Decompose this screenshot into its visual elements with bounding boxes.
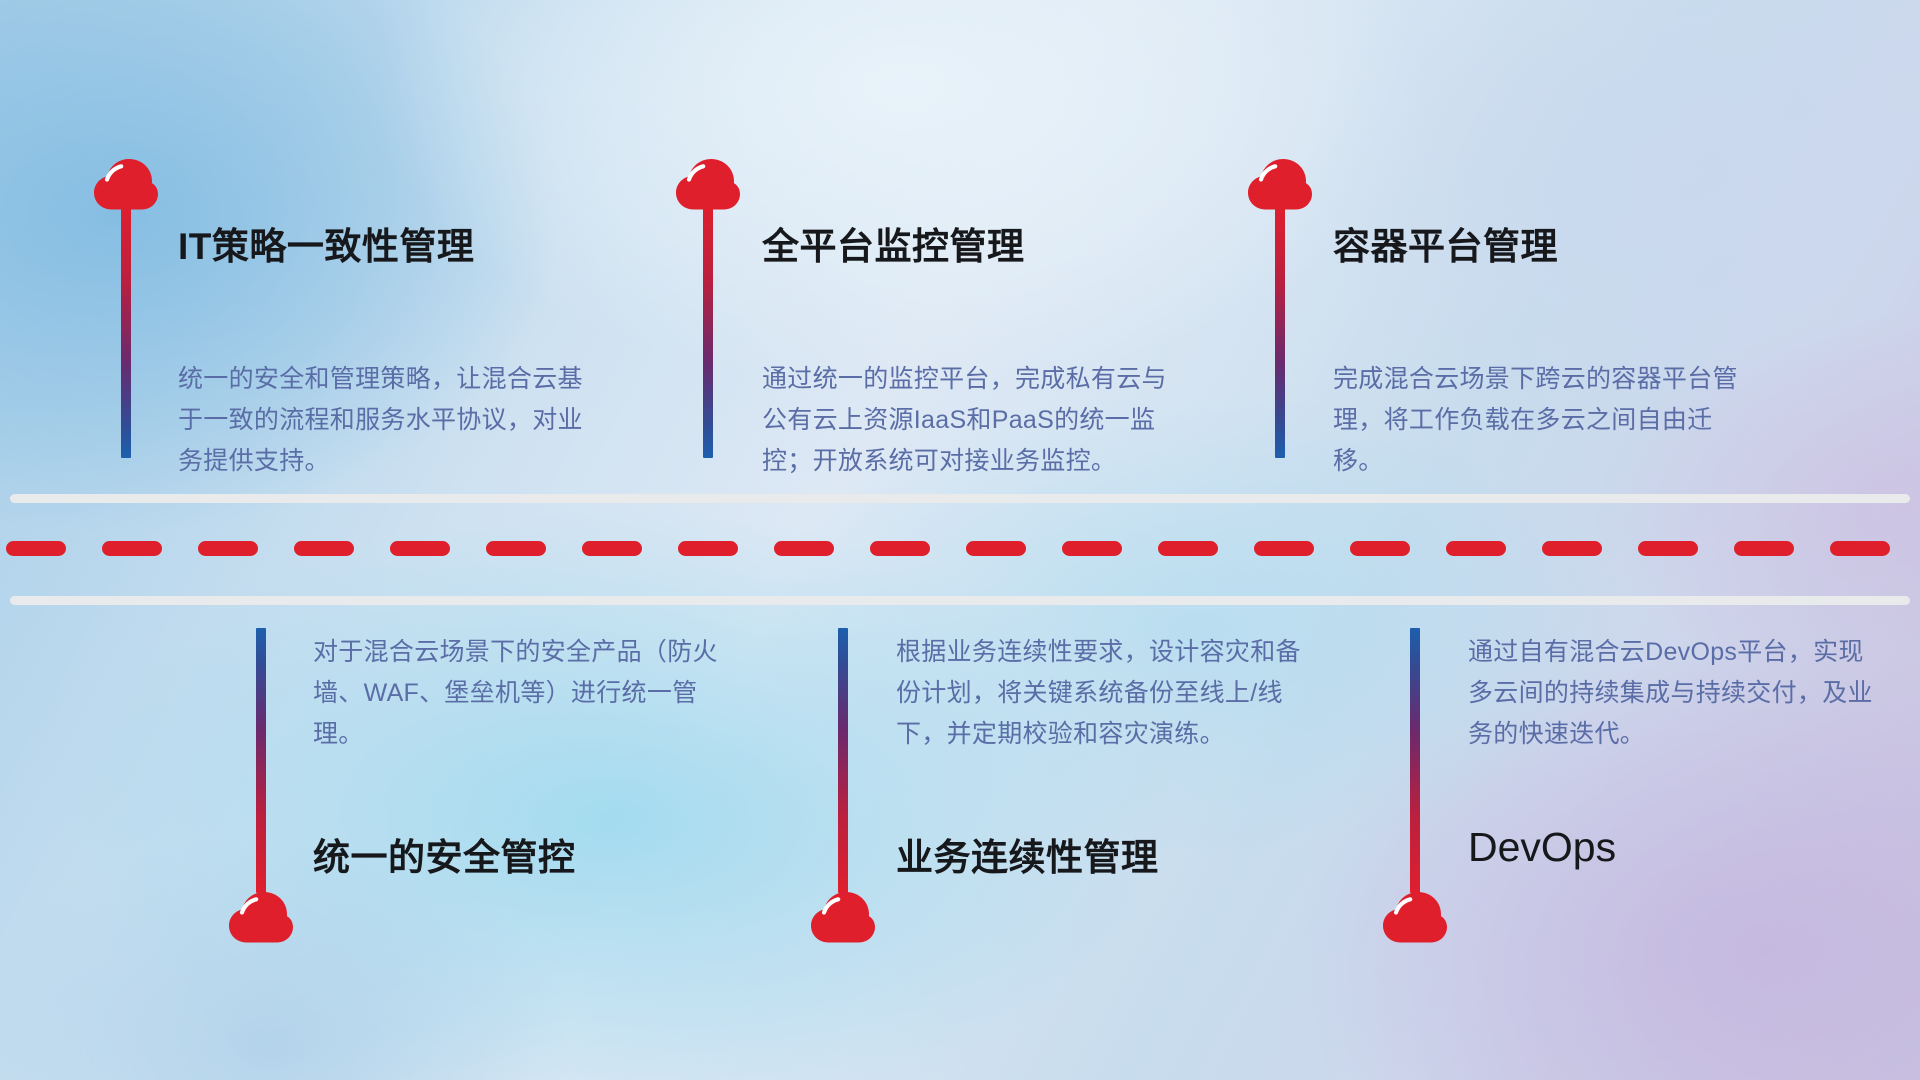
divider-dashed-line [0, 541, 1920, 556]
divider-dash [678, 541, 738, 556]
divider-dash [6, 541, 66, 556]
connector-stem [121, 206, 131, 458]
cloud-icon [1247, 158, 1313, 210]
divider-dash [1158, 541, 1218, 556]
card-heading: DevOps [1468, 824, 1616, 871]
divider-rail-bottom [10, 596, 1910, 605]
divider-dash [102, 541, 162, 556]
connector-stem [838, 628, 848, 893]
divider-dash [390, 541, 450, 556]
card-heading: IT策略一致性管理 [178, 216, 474, 270]
cloud-icon [810, 891, 876, 943]
divider-dash [1734, 541, 1794, 556]
connector-stem [256, 628, 266, 893]
card-heading: 全平台监控管理 [762, 216, 1025, 270]
card-heading: 业务连续性管理 [896, 827, 1159, 881]
connector-stem [1410, 628, 1420, 893]
divider-dash [774, 541, 834, 556]
card-heading: 统一的安全管控 [313, 827, 576, 881]
card-body: 通过自有混合云DevOps平台，实现多云间的持续集成与持续交付，及业务的快速迭代… [1468, 632, 1888, 755]
divider-dash [966, 541, 1026, 556]
divider-dash [1638, 541, 1698, 556]
divider-dash [582, 541, 642, 556]
cloud-icon [93, 158, 159, 210]
card-body: 统一的安全和管理策略，让混合云基于一致的流程和服务水平协议，对业务提供支持。 [178, 359, 598, 482]
card-body: 对于混合云场景下的安全产品（防火墙、WAF、堡垒机等）进行统一管理。 [313, 632, 733, 755]
divider-dash [486, 541, 546, 556]
card-body: 根据业务连续性要求，设计容灾和备份计划，将关键系统备份至线上/线下，并定期校验和… [896, 632, 1316, 755]
cloud-icon [1382, 891, 1448, 943]
divider-dash [1254, 541, 1314, 556]
divider-dash [1350, 541, 1410, 556]
divider-dash [1830, 541, 1890, 556]
divider-dash [198, 541, 258, 556]
connector-stem [1275, 206, 1285, 458]
card-body: 通过统一的监控平台，完成私有云与公有云上资源IaaS和PaaS的统一监控；开放系… [762, 359, 1182, 482]
divider-dash [1062, 541, 1122, 556]
connector-stem [703, 206, 713, 458]
divider-rail-top [10, 494, 1910, 503]
divider-dash [870, 541, 930, 556]
divider-dash [1446, 541, 1506, 556]
card-heading: 容器平台管理 [1333, 216, 1558, 270]
card-body: 完成混合云场景下跨云的容器平台管理，将工作负载在多云之间自由迁移。 [1333, 359, 1753, 482]
cloud-icon [228, 891, 294, 943]
divider-dash [294, 541, 354, 556]
cloud-icon [675, 158, 741, 210]
divider-dash [1542, 541, 1602, 556]
